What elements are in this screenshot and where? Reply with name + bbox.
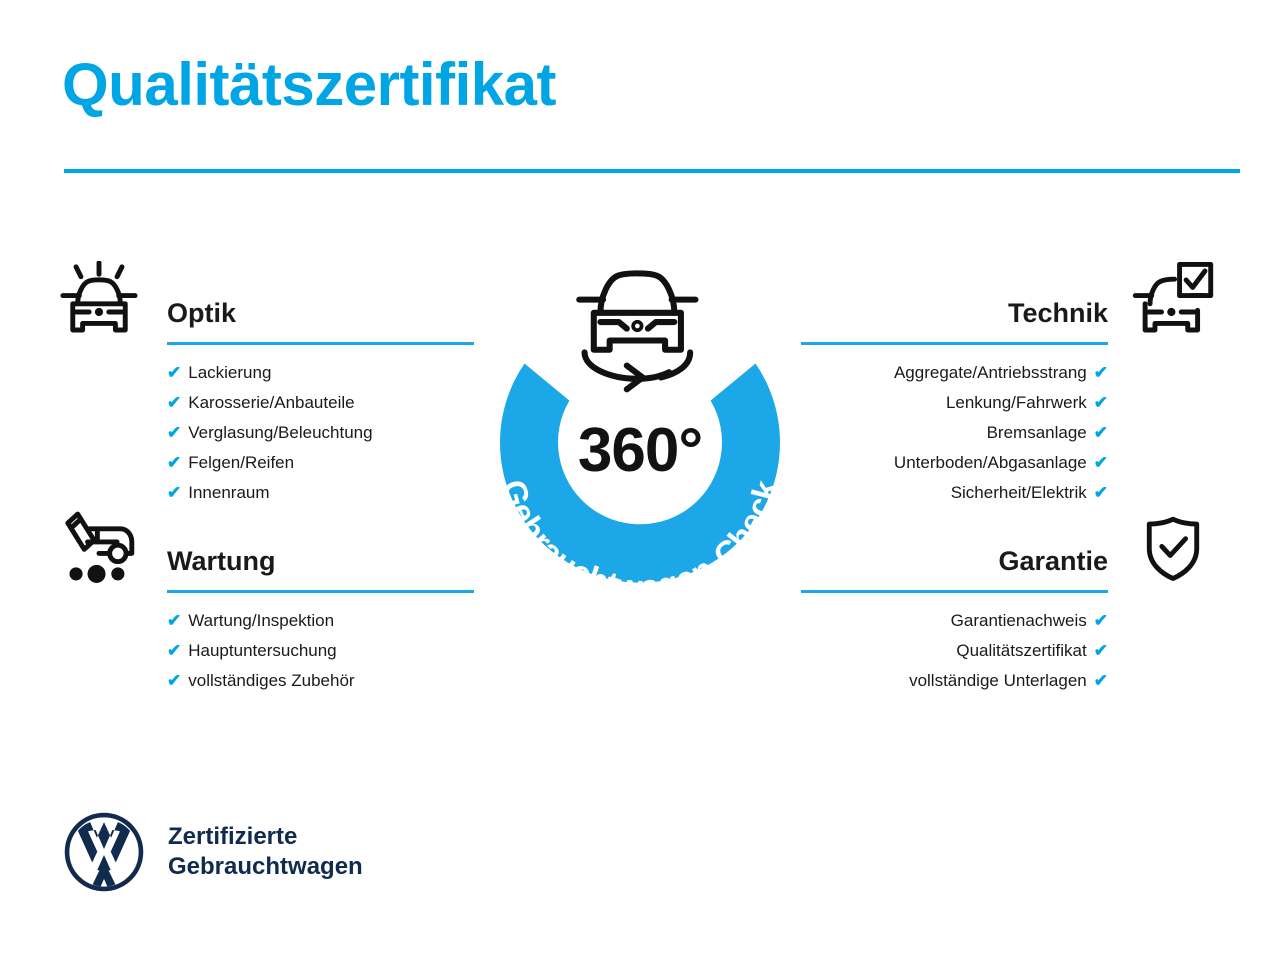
section-header-garantie: Garantie: [796, 506, 1216, 594]
footer-line-1: Zertifizierte: [168, 822, 363, 852]
section-title-technik: Technik: [1008, 300, 1108, 327]
check-icon: ✔: [1094, 388, 1108, 418]
check-icon: ✔: [1094, 478, 1108, 508]
list-item: Unterboden/Abgasanlage✔: [796, 448, 1216, 478]
check-icon: ✔: [167, 636, 181, 666]
section-underline-technik: [801, 342, 1108, 345]
list-item-label: Aggregate/Antriebsstrang: [894, 358, 1087, 388]
check-icon: ✔: [1094, 448, 1108, 478]
list-item-label: Unterboden/Abgasanlage: [894, 448, 1087, 478]
check-icon: ✔: [1094, 606, 1108, 636]
list-item: Lenkung/Fahrwerk✔: [796, 388, 1216, 418]
item-list-optik: ✔Lackierung ✔Karosserie/Anbauteile ✔Verg…: [56, 358, 476, 508]
list-item: ✔Wartung/Inspektion: [56, 606, 476, 636]
header-divider: [64, 169, 1240, 173]
footer-text: Zertifizierte Gebrauchtwagen: [168, 822, 363, 882]
list-item-label: vollständige Unterlagen: [909, 666, 1087, 696]
list-item: ✔Felgen/Reifen: [56, 448, 476, 478]
car-shine-icon: [56, 258, 142, 342]
badge-360-gebrauchtwagen-check: Gebrauchtwagen-Check 360°: [456, 252, 824, 632]
section-header-technik: Technik: [796, 258, 1216, 346]
check-icon: ✔: [167, 606, 181, 636]
list-item: ✔vollständiges Zubehör: [56, 666, 476, 696]
item-list-technik: Aggregate/Antriebsstrang✔ Lenkung/Fahrwe…: [796, 358, 1216, 508]
list-item-label: Hauptuntersuchung: [188, 636, 336, 666]
footer-logo: Zertifizierte Gebrauchtwagen: [62, 810, 363, 894]
list-item-label: Qualitätszertifikat: [956, 636, 1086, 666]
section-garantie: Garantie Garantienachweis✔ Qualitätszert…: [796, 506, 1216, 594]
section-title-optik: Optik: [167, 300, 236, 327]
check-icon: ✔: [167, 388, 181, 418]
section-underline-wartung: [167, 590, 474, 593]
list-item: ✔Hauptuntersuchung: [56, 636, 476, 666]
list-item-label: Karosserie/Anbauteile: [188, 388, 354, 418]
section-header-optik: Optik: [56, 258, 476, 346]
shield-check-icon: [1130, 506, 1216, 590]
check-icon: ✔: [1094, 358, 1108, 388]
list-item: ✔Verglasung/Beleuchtung: [56, 418, 476, 448]
list-item-label: Verglasung/Beleuchtung: [188, 418, 372, 448]
check-icon: ✔: [1094, 666, 1108, 696]
check-icon: ✔: [167, 478, 181, 508]
badge-360-value: 360°: [456, 420, 824, 482]
check-icon: ✔: [167, 666, 181, 696]
list-item-label: Sicherheit/Elektrik: [951, 478, 1087, 508]
check-icon: ✔: [1094, 636, 1108, 666]
section-underline-optik: [167, 342, 474, 345]
item-list-garantie: Garantienachweis✔ Qualitätszertifikat✔ v…: [796, 606, 1216, 696]
section-optik: Optik ✔Lackierung ✔Karosserie/Anbauteile…: [56, 258, 476, 346]
check-icon: ✔: [167, 358, 181, 388]
footer-line-2: Gebrauchtwagen: [168, 852, 363, 882]
section-header-wartung: Wartung: [56, 506, 476, 594]
section-title-garantie: Garantie: [998, 548, 1108, 575]
list-item: Sicherheit/Elektrik✔: [796, 478, 1216, 508]
item-list-wartung: ✔Wartung/Inspektion ✔Hauptuntersuchung ✔…: [56, 606, 476, 696]
list-item-label: Garantienachweis: [951, 606, 1087, 636]
list-item-label: vollständiges Zubehör: [188, 666, 354, 696]
list-item: ✔Lackierung: [56, 358, 476, 388]
list-item-label: Bremsanlage: [987, 418, 1087, 448]
list-item: Qualitätszertifikat✔: [796, 636, 1216, 666]
car-rotate-icon: [579, 273, 695, 389]
list-item: Garantienachweis✔: [796, 606, 1216, 636]
page-title: Qualitätszertifikat: [62, 52, 556, 118]
list-item-label: Lackierung: [188, 358, 271, 388]
list-item: ✔Karosserie/Anbauteile: [56, 388, 476, 418]
list-item: Aggregate/Antriebsstrang✔: [796, 358, 1216, 388]
car-checkbox-icon: [1130, 258, 1216, 342]
check-icon: ✔: [1094, 418, 1108, 448]
list-item-label: Innenraum: [188, 478, 269, 508]
section-title-wartung: Wartung: [167, 548, 275, 575]
section-technik: Technik Aggregate/Antriebsstrang✔ Lenkun…: [796, 258, 1216, 346]
list-item: ✔Innenraum: [56, 478, 476, 508]
check-icon: ✔: [167, 448, 181, 478]
vw-logo: [62, 810, 146, 894]
list-item-label: Wartung/Inspektion: [188, 606, 334, 636]
car-service-pencil-icon: [56, 506, 142, 590]
list-item-label: Felgen/Reifen: [188, 448, 294, 478]
list-item: Bremsanlage✔: [796, 418, 1216, 448]
list-item: vollständige Unterlagen✔: [796, 666, 1216, 696]
check-icon: ✔: [167, 418, 181, 448]
list-item-label: Lenkung/Fahrwerk: [946, 388, 1087, 418]
section-wartung: Wartung ✔Wartung/Inspektion ✔Hauptunters…: [56, 506, 476, 594]
section-underline-garantie: [801, 590, 1108, 593]
